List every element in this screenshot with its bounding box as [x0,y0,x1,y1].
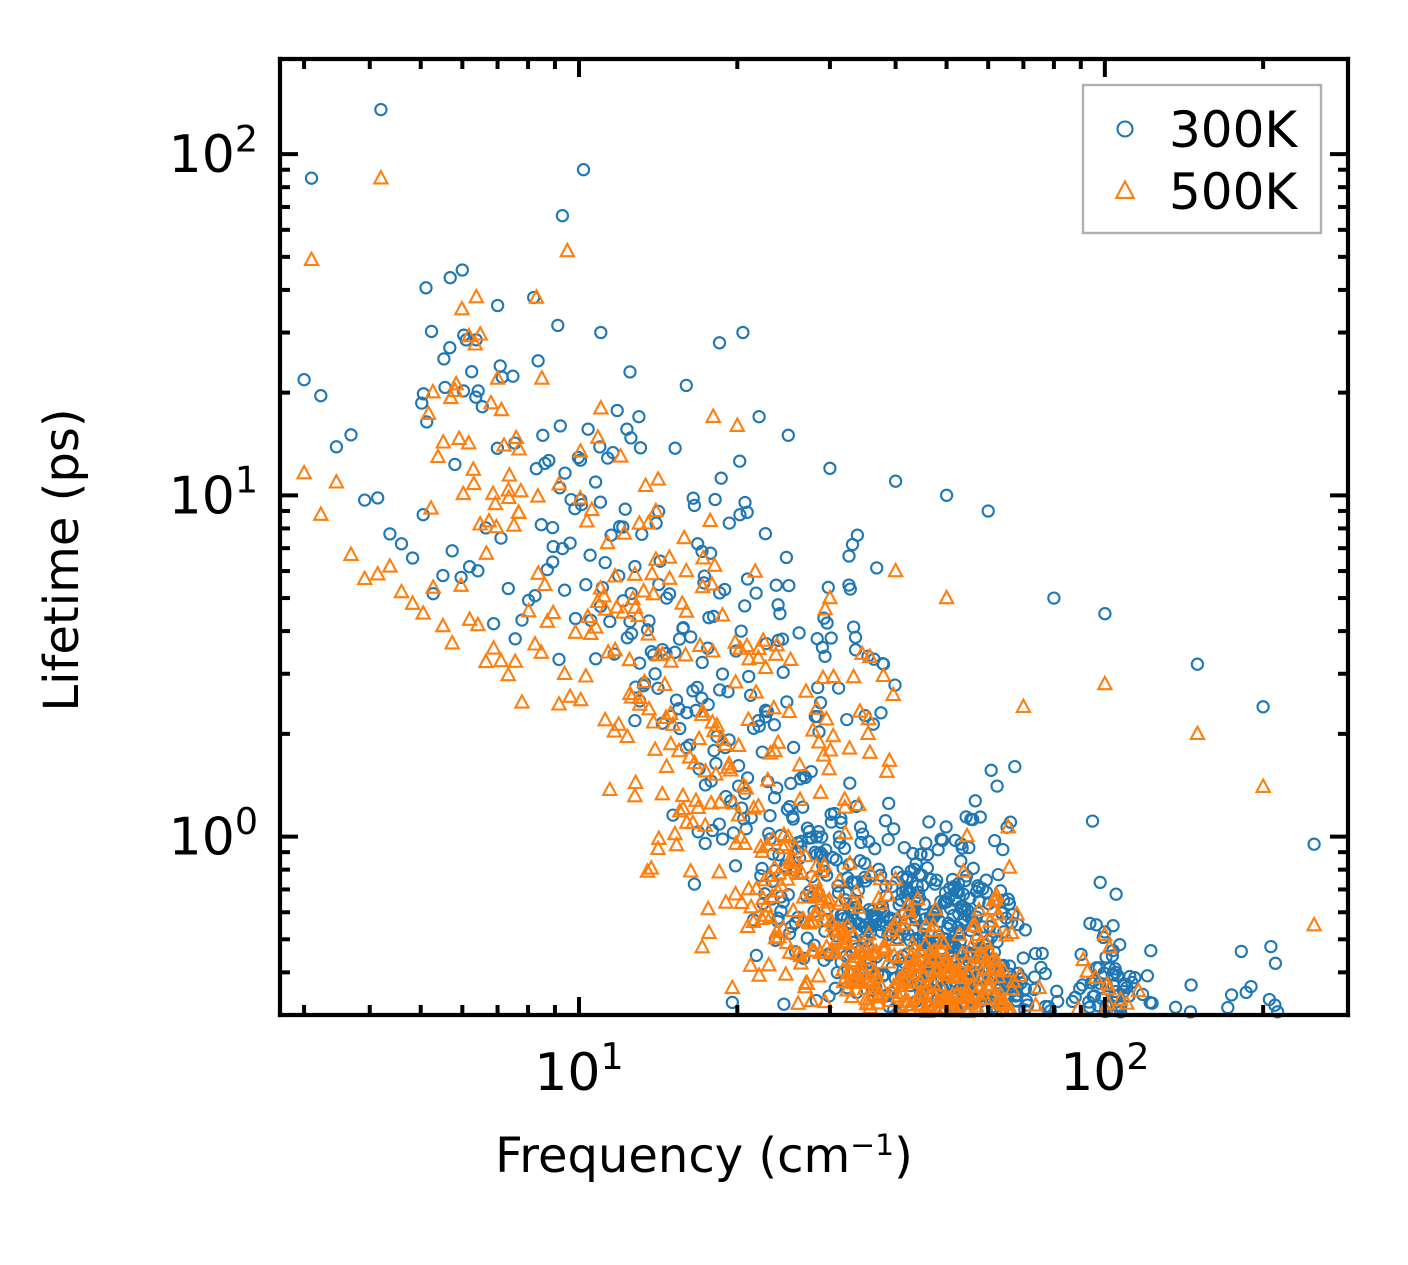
legend-label-500K: 500K [1169,163,1298,221]
x-axis-label-exponent: −1 [850,1128,894,1163]
x-axis-label-tail: ) [894,1128,913,1184]
figure-canvas: 101102102101100 300K500K Lifetime (ps) F… [0,0,1408,1265]
y-axis-label: Lifetime (ps) [34,408,90,711]
legend-label-300K: 300K [1169,101,1298,159]
legend[interactable]: 300K500K [1083,85,1321,233]
x-axis-label: Frequency (cm−1) [0,1128,1408,1184]
y-axis-label-wrapper: Lifetime (ps) [32,80,92,1040]
x-axis-label-text: Frequency (cm [495,1128,850,1184]
scatter-plot: 101102102101100 300K500K [0,0,1408,1265]
